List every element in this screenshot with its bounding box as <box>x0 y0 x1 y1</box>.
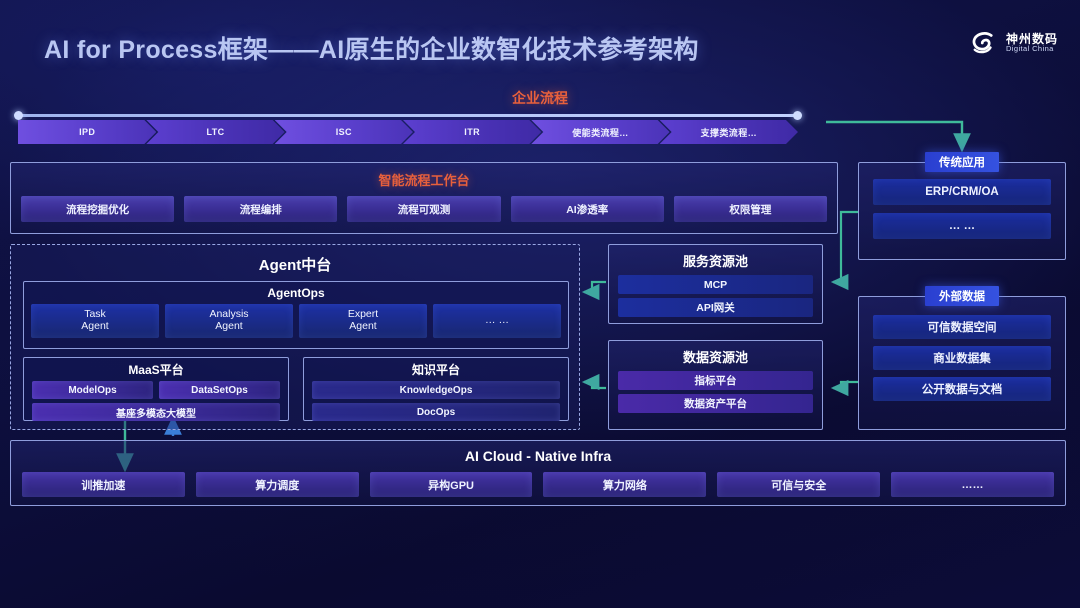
external-data-item[interactable]: 公开数据与文档 <box>873 377 1051 401</box>
legacy-apps-item[interactable]: … … <box>873 213 1051 239</box>
maas-item[interactable]: DataSetOps <box>159 381 280 399</box>
process-step-label: IPD <box>79 127 95 137</box>
external-data-item[interactable]: 可信数据空间 <box>873 315 1051 339</box>
agentops-item[interactable]: Analysis Agent <box>165 304 293 338</box>
process-step-label: LTC <box>206 127 224 137</box>
process-step[interactable]: ITR <box>403 120 541 144</box>
infra-item[interactable]: …… <box>891 472 1054 497</box>
data-pool-item[interactable]: 指标平台 <box>618 371 813 390</box>
service-pool-title: 服务资源池 <box>609 251 822 270</box>
agent-platform-panel: Agent中台 AgentOps Task Agent Analysis Age… <box>10 244 580 430</box>
process-flow-steps: IPD LTC ISC ITR 使能类流程… 支撑类流程… <box>18 120 798 144</box>
agentops-panel: AgentOps Task Agent Analysis Agent Exper… <box>23 281 569 349</box>
agentops-item-line2: Agent <box>349 321 376 333</box>
brand-logo: 神州数码 Digital China <box>968 28 1058 58</box>
external-data-title: 外部数据 <box>925 286 999 306</box>
process-step[interactable]: 支撑类流程… <box>660 120 798 144</box>
legacy-applications-panel: 传统应用 ERP/CRM/OA … … <box>858 162 1066 260</box>
workbench-item[interactable]: 流程挖掘优化 <box>21 196 174 222</box>
process-step[interactable]: IPD <box>18 120 156 144</box>
agent-platform-title: Agent中台 <box>11 254 579 275</box>
external-data-item[interactable]: 商业数据集 <box>873 346 1051 370</box>
knowledge-platform-title: 知识平台 <box>304 361 568 378</box>
slide-canvas: AI for Process框架——AI原生的企业数智化技术参考架构 神州数码 … <box>0 0 1080 608</box>
process-step[interactable]: LTC <box>146 120 284 144</box>
service-pool-item[interactable]: API网关 <box>618 298 813 317</box>
intelligent-process-workbench-panel: 智能流程工作台 流程挖掘优化 流程编排 流程可观测 AI渗透率 权限管理 <box>10 162 838 234</box>
infra-item[interactable]: 可信与安全 <box>717 472 880 497</box>
agentops-item[interactable]: … … <box>433 304 561 338</box>
workbench-item[interactable]: 权限管理 <box>674 196 827 222</box>
wire-servicepool-to-agent <box>584 282 606 292</box>
agentops-item-line2: Agent <box>215 321 242 333</box>
swirl-logo-icon <box>968 28 998 58</box>
legacy-apps-title: 传统应用 <box>925 152 999 172</box>
process-flow-rail <box>18 114 798 117</box>
logo-text-en: Digital China <box>1006 45 1058 53</box>
knowledge-item[interactable]: DocOps <box>312 403 560 421</box>
process-step-label: 使能类流程… <box>572 126 628 139</box>
infra-item[interactable]: 训推加速 <box>22 472 185 497</box>
knowledge-item[interactable]: KnowledgeOps <box>312 381 560 399</box>
service-pool-item[interactable]: MCP <box>618 275 813 294</box>
agentops-item[interactable]: Task Agent <box>31 304 159 338</box>
infra-item[interactable]: 算力网络 <box>543 472 706 497</box>
external-data-panel: 外部数据 可信数据空间 商业数据集 公开数据与文档 <box>858 296 1066 430</box>
data-resource-pool-panel: 数据资源池 指标平台 数据资产平台 <box>608 340 823 430</box>
rail-dot-right-icon <box>793 111 802 120</box>
infra-title: AI Cloud - Native Infra <box>11 448 1065 464</box>
infra-item[interactable]: 异构GPU <box>370 472 533 497</box>
process-step-label: ISC <box>336 127 352 137</box>
knowledge-platform-panel: 知识平台 KnowledgeOps DocOps <box>303 357 569 421</box>
wire-datapool-to-agent <box>584 382 606 388</box>
agentops-title: AgentOps <box>24 286 568 300</box>
workbench-item[interactable]: 流程可观测 <box>347 196 500 222</box>
agentops-item[interactable]: Expert Agent <box>299 304 427 338</box>
rail-dot-left-icon <box>14 111 23 120</box>
data-pool-item[interactable]: 数据资产平台 <box>618 394 813 413</box>
page-title: AI for Process框架——AI原生的企业数智化技术参考架构 <box>44 30 699 66</box>
ai-cloud-native-infra-panel: AI Cloud - Native Infra 训推加速 算力调度 异构GPU … <box>10 440 1066 506</box>
service-resource-pool-panel: 服务资源池 MCP API网关 <box>608 244 823 324</box>
maas-platform-panel: MaaS平台 ModelOps DataSetOps 基座多模态大模型 <box>23 357 289 421</box>
maas-item[interactable]: 基座多模态大模型 <box>32 403 280 421</box>
agentops-item-line1: … … <box>485 315 509 327</box>
process-step-label: ITR <box>464 127 480 137</box>
wire-flow-to-legacy <box>826 122 962 150</box>
agentops-item-line2: Agent <box>81 321 108 333</box>
maas-item[interactable]: ModelOps <box>32 381 153 399</box>
process-step[interactable]: ISC <box>275 120 413 144</box>
workbench-title: 智能流程工作台 <box>11 170 837 189</box>
wire-extdata-to-datapool <box>833 382 858 388</box>
workbench-item[interactable]: 流程编排 <box>184 196 337 222</box>
process-step-label: 支撑类流程… <box>701 126 757 139</box>
maas-title: MaaS平台 <box>24 361 288 378</box>
process-step[interactable]: 使能类流程… <box>531 120 669 144</box>
workbench-item[interactable]: AI渗透率 <box>511 196 664 222</box>
process-flow-title: 企业流程 <box>0 88 1080 108</box>
data-pool-title: 数据资源池 <box>609 347 822 366</box>
legacy-apps-item[interactable]: ERP/CRM/OA <box>873 179 1051 205</box>
infra-item[interactable]: 算力调度 <box>196 472 359 497</box>
